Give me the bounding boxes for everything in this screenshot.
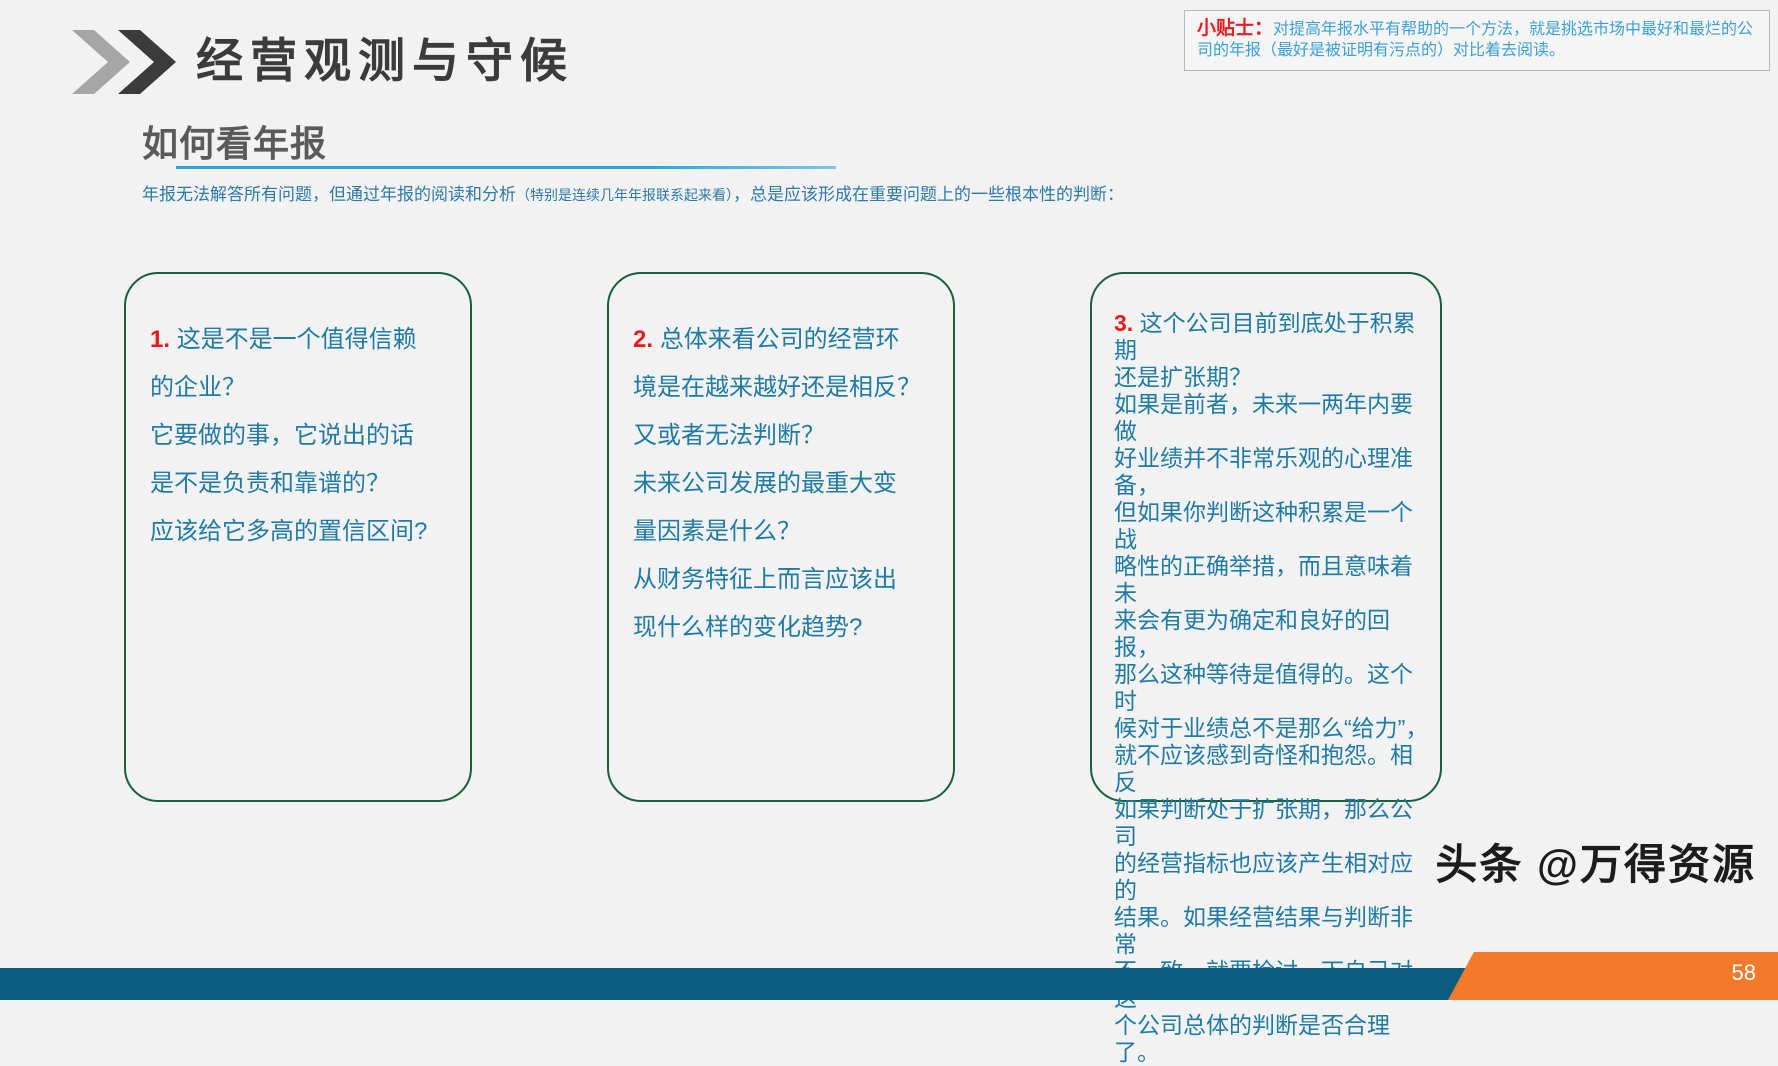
card-1-line-4: 应该给它多高的置信区间?: [150, 508, 452, 556]
card-3-number: 3.: [1114, 310, 1133, 336]
card-3-line-1: 还是扩张期？: [1114, 364, 1430, 391]
card-2-line-3: 未来公司发展的最重大变: [633, 460, 935, 508]
subtitle-underline: [176, 166, 836, 169]
card-1-line-2: 它要做的事，它说出的话: [150, 412, 452, 460]
card-1-number: 1.: [150, 326, 170, 353]
intro-part-2: （特别是连续几年年报联系起来看）: [516, 187, 733, 203]
card-3-line-11: 的经营指标也应该产生相对应的: [1114, 850, 1430, 904]
card-3-line-9: 就不应该感到奇怪和抱怨。相反: [1114, 742, 1430, 796]
card-2-number: 2.: [633, 326, 653, 353]
question-card-3: 3. 这个公司目前到底处于积累期 还是扩张期？ 如果是前者，未来一两年内要做 好…: [1090, 272, 1442, 802]
card-3-line-4: 但如果你判断这种积累是一个战: [1114, 499, 1430, 553]
card-2-line-5: 从财务特征上而言应该出: [633, 556, 935, 604]
card-3-line-5: 略性的正确举措，而且意味着未: [1114, 553, 1430, 607]
chevron-right-dark-icon: [116, 28, 178, 96]
card-1-line-3: 是不是负责和靠谱的？: [150, 460, 452, 508]
card-2-line-4: 量因素是什么？: [633, 508, 935, 556]
slide-root: 经营观测与守候 小贴士：对提高年报水平有帮助的一个方法，就是挑选市场中最好和最烂…: [0, 0, 1778, 1000]
watermark: 头条 @万得资源: [1435, 831, 1756, 892]
card-1-body: 1. 这是不是一个值得信赖 的企业？ 它要做的事，它说出的话 是不是负责和靠谱的…: [150, 316, 452, 556]
card-2-line-2: 又或者无法判断？: [633, 412, 935, 460]
page-title: 经营观测与守候: [196, 30, 574, 92]
card-2-line-6: 现什么样的变化趋势?: [633, 604, 935, 652]
card-3-line-2: 如果是前者，未来一两年内要做: [1114, 391, 1430, 445]
section-subtitle: 如何看年报: [142, 115, 327, 167]
card-2-line-0: 总体来看公司的经营环: [660, 326, 900, 353]
card-3-body: 3. 这个公司目前到底处于积累期 还是扩张期？ 如果是前者，未来一两年内要做 好…: [1114, 310, 1430, 1066]
chevron-group: [70, 28, 190, 96]
card-group: 1. 这是不是一个值得信赖 的企业？ 它要做的事，它说出的话 是不是负责和靠谱的…: [0, 272, 1778, 812]
tip-callout: 小贴士：对提高年报水平有帮助的一个方法，就是挑选市场中最好和最烂的公司的年报（最…: [1184, 10, 1770, 71]
tip-label: 小贴士：: [1197, 18, 1273, 39]
footer-accent-bar: [1448, 952, 1778, 1000]
question-card-2: 2. 总体来看公司的经营环 境是在越来越好还是相反？ 又或者无法判断？ 未来公司…: [607, 272, 955, 802]
card-3-line-12: 结果。如果经营结果与判断非常: [1114, 904, 1430, 958]
card-3-line-14: 个公司总体的判断是否合理了。: [1114, 1012, 1430, 1066]
card-3-line-7: 那么这种等待是值得的。这个时: [1114, 661, 1430, 715]
question-card-1: 1. 这是不是一个值得信赖 的企业？ 它要做的事，它说出的话 是不是负责和靠谱的…: [124, 272, 472, 802]
intro-part-3: ，总是应该形成在重要问题上的一些根本性的判断：: [733, 185, 1124, 204]
card-1-line-0: 这是不是一个值得信赖: [177, 326, 417, 353]
intro-part-1: 年报无法解答所有问题，但通过年报的阅读和分析: [142, 185, 516, 204]
card-1-line-1: 的企业？: [150, 364, 452, 412]
tip-text: 对提高年报水平有帮助的一个方法，就是挑选市场中最好和最烂的公司的年报（最好是被证…: [1197, 21, 1753, 59]
intro-paragraph: 年报无法解答所有问题，但通过年报的阅读和分析（特别是连续几年年报联系起来看），总…: [142, 180, 1124, 205]
card-3-line-10: 如果判断处于扩张期，那么公司: [1114, 796, 1430, 850]
card-3-line-8: 候对于业绩总不是那么“给力”，: [1114, 715, 1430, 742]
card-3-line-0: 这个公司目前到底处于积累期: [1114, 310, 1416, 363]
card-3-line-3: 好业绩并不非常乐观的心理准备，: [1114, 445, 1430, 499]
card-2-line-1: 境是在越来越好还是相反？: [633, 364, 935, 412]
card-2-body: 2. 总体来看公司的经营环 境是在越来越好还是相反？ 又或者无法判断？ 未来公司…: [633, 316, 935, 652]
page-number: 58: [1732, 960, 1756, 986]
card-3-line-6: 来会有更为确定和良好的回报，: [1114, 607, 1430, 661]
